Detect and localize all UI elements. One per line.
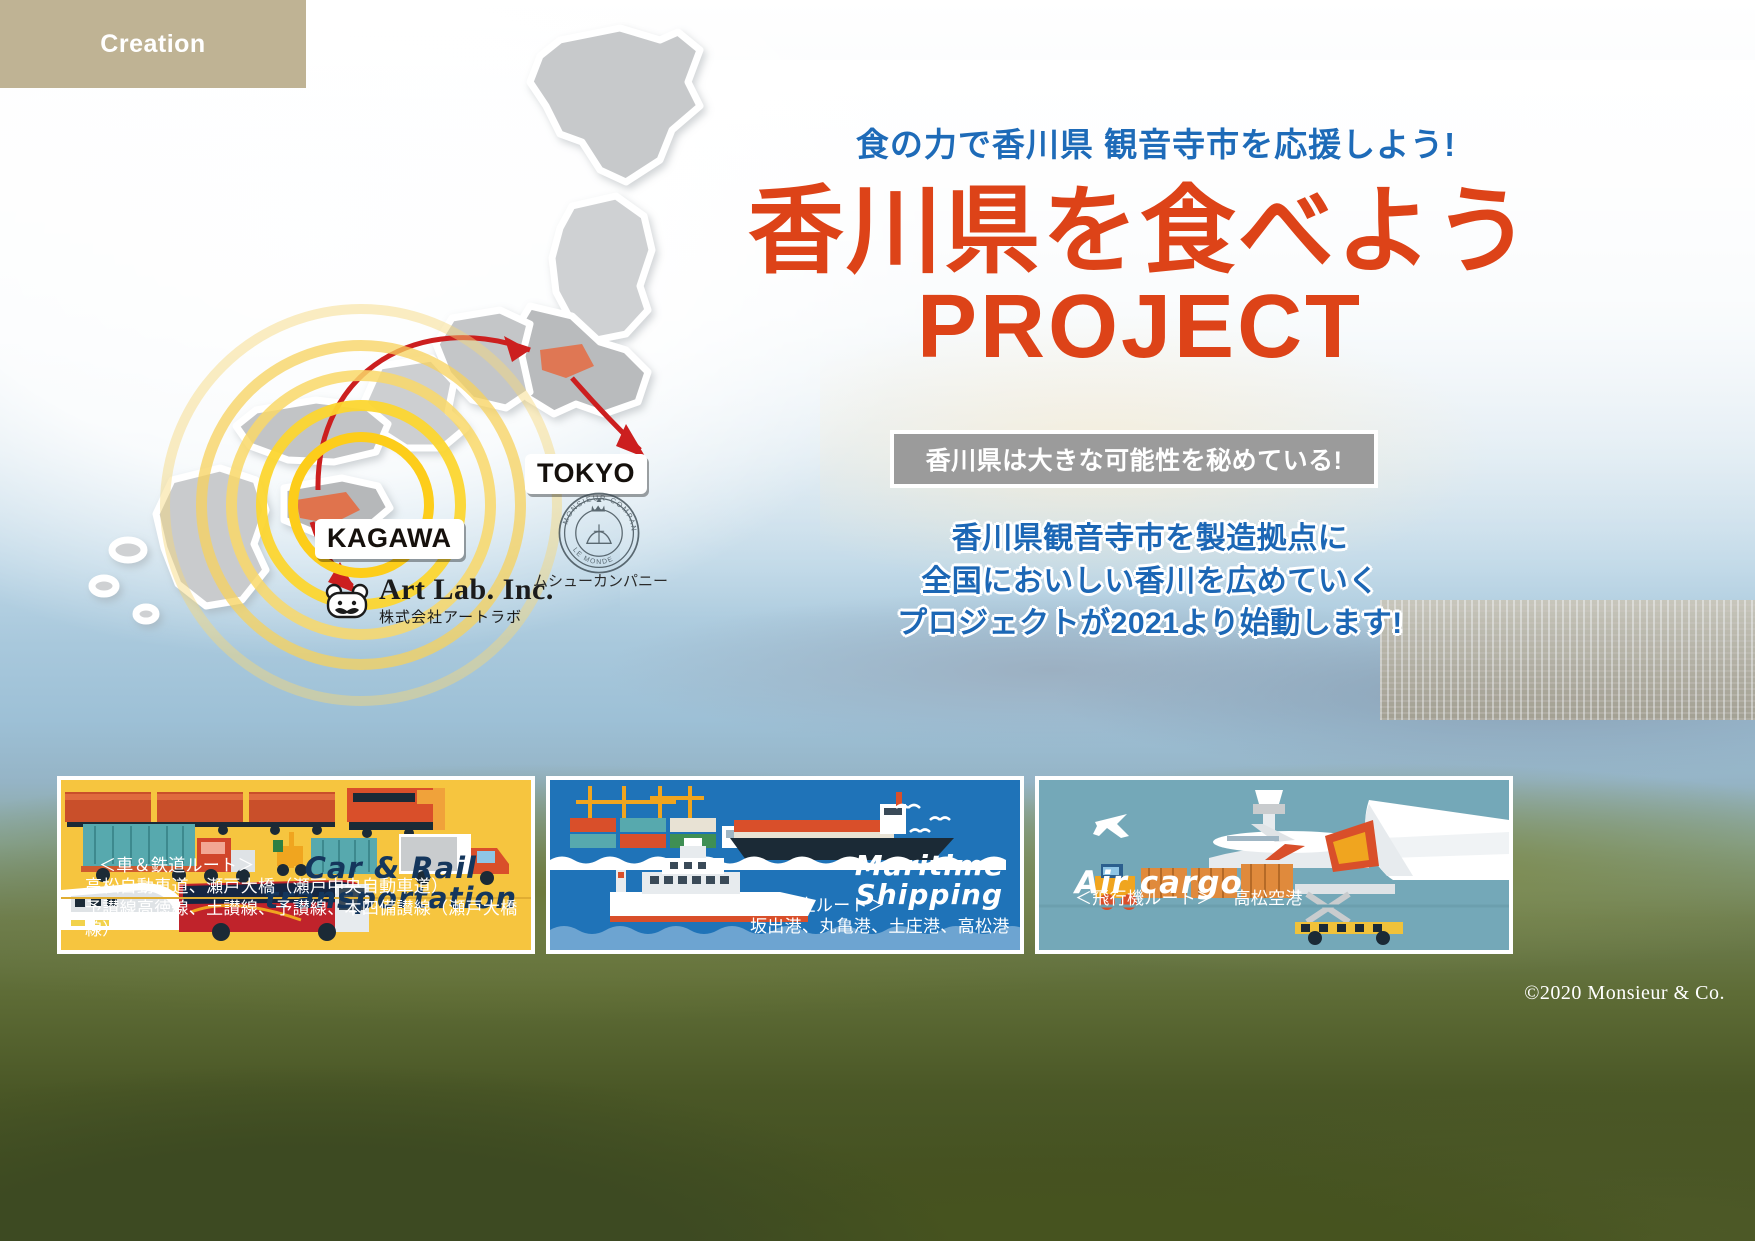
island-small-c (136, 607, 156, 621)
map-pin-kagawa[interactable]: KAGAWA (315, 519, 464, 559)
tagline-banner: 香川県は大きな可能性を秘めている! (890, 430, 1378, 488)
card-maritime-route-label: ＜海上ルート＞ (750, 895, 1010, 917)
body-copy: 香川県観音寺市を製造拠点に 全国においしい香川を広めていく プロジェクトが202… (820, 518, 1480, 646)
monsieur-seal-icon: MONSIEUR COMPANY LE MONDE (556, 490, 642, 576)
card-car-rail-route-2: 予讃線高徳線、土讃線、予讃線、本四備讃線（瀬戸大橋線） (85, 898, 531, 941)
card-maritime-routes: ＜海上ルート＞ 坂出港、丸亀港、土庄港、高松港 (750, 895, 1010, 938)
body-copy-line-1: 香川県観音寺市を製造拠点に (820, 518, 1480, 561)
card-air-cargo-route-line: ＜飛行機ルート＞ 高松空港 (1075, 888, 1303, 910)
card-car-rail-route-label: ＜車＆鉄道ルート＞ (85, 855, 531, 877)
poster-canvas: Creation (0, 0, 1755, 1241)
card-maritime-route-1: 坂出港、丸亀港、土庄港、高松港 (750, 916, 1010, 938)
region-hokkaido (530, 28, 700, 182)
map-pin-tokyo-label: TOKYO (537, 458, 635, 488)
tagline-banner-label: 香川県は大きな可能性を秘めている! (926, 441, 1343, 477)
body-copy-line-2: 全国においしい香川を広めていく (820, 561, 1480, 604)
bear-mustache-icon (325, 583, 369, 623)
island-small-a (112, 540, 144, 560)
card-maritime-script-1: Maritime (855, 852, 1004, 881)
card-car-rail-routes: ＜車＆鉄道ルート＞ 高松自動車道、瀬戸大橋（瀬戸中央自動車道） 予讃線高徳線、土… (85, 855, 531, 941)
card-air-cargo-route-1: 高松空港 (1234, 889, 1303, 908)
page-title-jp: 香川県を食べよう (700, 185, 1580, 279)
body-copy-line-3: プロジェクトが2021より始動します! (820, 603, 1480, 646)
card-car-rail[interactable]: Car & Rail transportation ＜車＆鉄道ルート＞ 高松自動… (57, 776, 535, 954)
map-pin-tokyo[interactable]: TOKYO (525, 454, 647, 494)
lead-copy: 食の力で香川県 観音寺市を応援しよう! (806, 118, 1506, 166)
page-title-en: PROJECT (700, 283, 1580, 371)
artlab-logo[interactable]: Art Lab. Inc. 株式会社アートラボ (325, 575, 554, 625)
artlab-name-jp: 株式会社アートラボ (379, 610, 554, 625)
monsieur-company-label: ムシューカンパニー (533, 570, 668, 591)
card-air-cargo-routes: ＜飛行機ルート＞ 高松空港 (1075, 888, 1303, 910)
svg-text:LE MONDE: LE MONDE (571, 547, 615, 566)
artlab-text: Art Lab. Inc. 株式会社アートラボ (379, 575, 554, 625)
page-title: 香川県を食べよう PROJECT (700, 185, 1580, 371)
artlab-name-en: Art Lab. Inc. (379, 575, 554, 605)
island-small-b (92, 578, 116, 594)
map-pin-kagawa-label: KAGAWA (327, 523, 452, 553)
card-air-cargo[interactable]: Air cargo ＜飛行機ルート＞ 高松空港 (1035, 776, 1513, 954)
card-maritime-shipping[interactable]: Maritime Shipping ＜海上ルート＞ 坂出港、丸亀港、土庄港、高松… (546, 776, 1024, 954)
card-car-rail-route-1: 高松自動車道、瀬戸大橋（瀬戸中央自動車道） (85, 876, 531, 898)
copyright-notice: ©2020 Monsieur & Co. (1524, 982, 1725, 1005)
card-air-cargo-route-label: ＜飛行機ルート＞ (1075, 889, 1213, 908)
